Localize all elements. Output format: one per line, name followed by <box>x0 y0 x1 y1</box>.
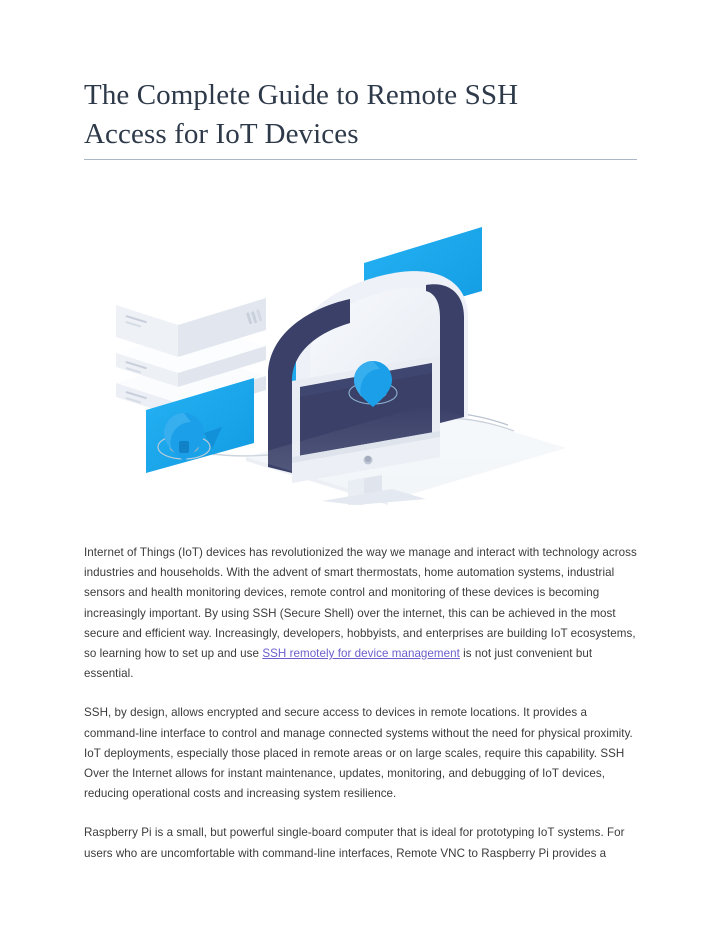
document-page: The Complete Guide to Remote SSHAccess f… <box>0 0 720 931</box>
title-divider <box>84 159 637 160</box>
ssh-remote-device-management-link[interactable]: SSH remotely for device management <box>262 647 460 660</box>
paragraph-3: Raspberry Pi is a small, but powerful si… <box>84 823 640 863</box>
article-body: Internet of Things (IoT) devices has rev… <box>84 543 640 864</box>
page-title: The Complete Guide to Remote SSHAccess f… <box>84 76 624 154</box>
page-title-line-2: Access for IoT Devices <box>84 118 359 150</box>
page-title-line-1: The Complete Guide to Remote SSH <box>84 79 518 111</box>
paragraph-1-text-a: Internet of Things (IoT) devices has rev… <box>84 546 637 660</box>
iot-ssh-illustration: IP <box>96 205 636 505</box>
paragraph-1: Internet of Things (IoT) devices has rev… <box>84 543 640 684</box>
paragraph-2: SSH, by design, allows encrypted and sec… <box>84 703 640 804</box>
